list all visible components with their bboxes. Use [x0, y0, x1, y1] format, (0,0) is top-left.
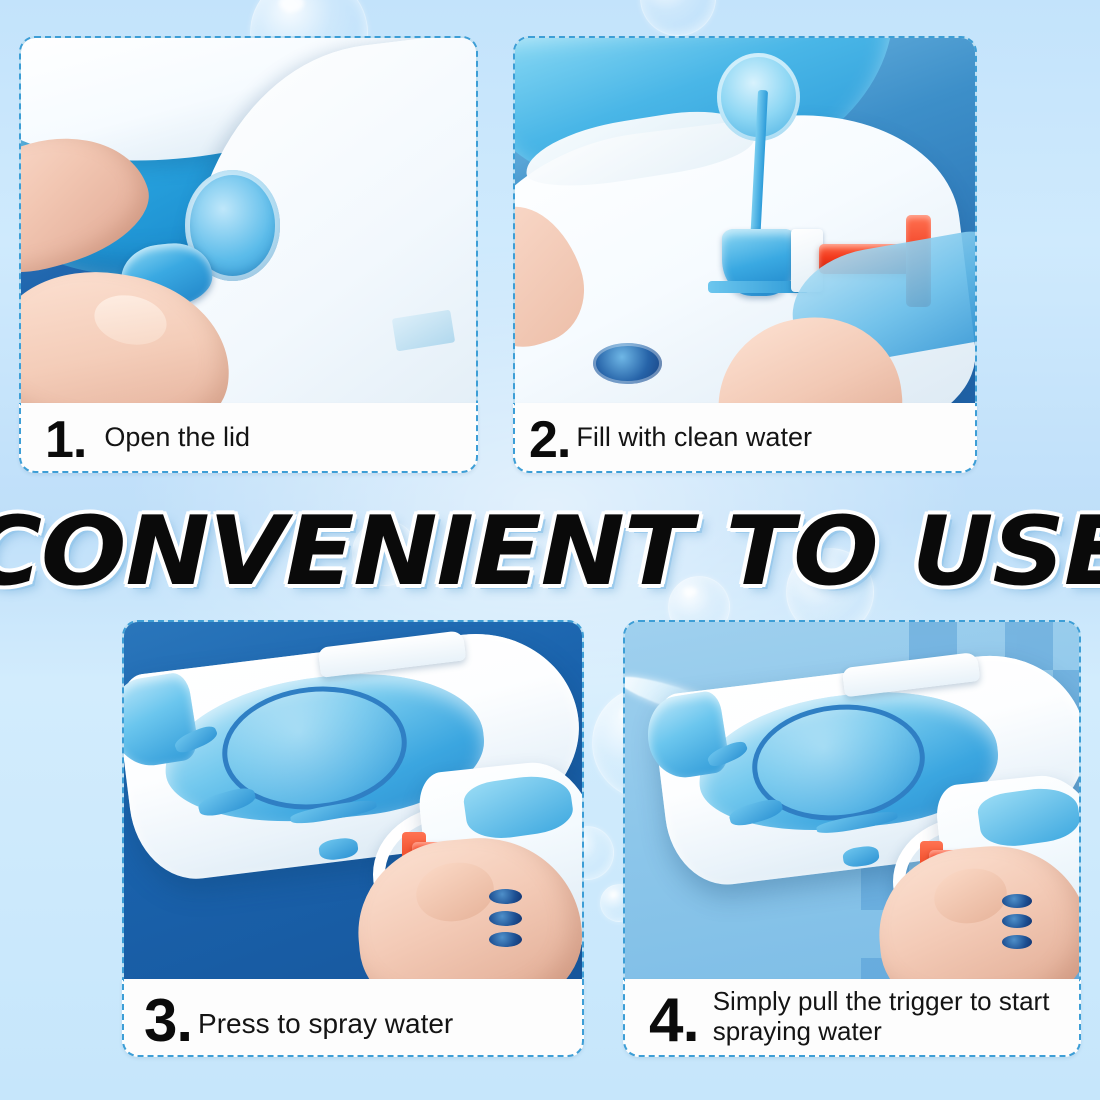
- bubble-icon: [352, 520, 418, 586]
- step-3-caption: 3. Press to spray water: [122, 979, 584, 1057]
- banner-title: CONVENIENT TO USE: [0, 505, 1100, 600]
- vent-hole: [489, 911, 522, 926]
- water-gun: [643, 651, 1081, 968]
- step-3-photo: [122, 620, 584, 982]
- step-card-1: 1. Open the lid: [19, 36, 478, 473]
- vent-hole: [1002, 894, 1033, 908]
- step-4-number: 4.: [649, 993, 699, 1049]
- vent-hole: [1002, 914, 1033, 928]
- step-card-2: 2. Fill with clean water: [513, 36, 977, 473]
- step-2-photo: [513, 36, 977, 406]
- banner: CONVENIENT TO USE: [0, 498, 1100, 606]
- step-4-caption: 4. Simply pull the trigger to start spra…: [623, 979, 1081, 1057]
- step-2-caption: 2. Fill with clean water: [513, 403, 977, 473]
- vent-hole: [593, 343, 662, 383]
- step-4-photo: [623, 620, 1081, 982]
- step-3-number: 3.: [144, 994, 192, 1048]
- step-3-text: Press to spray water: [198, 1008, 572, 1040]
- step-2-number: 2.: [529, 417, 570, 464]
- step-card-3: 3. Press to spray water: [122, 620, 584, 1057]
- step-card-4: 4. Simply pull the trigger to start spra…: [623, 620, 1081, 1057]
- nozzle: [642, 690, 731, 783]
- vent-hole: [489, 932, 522, 947]
- vent-hole: [1002, 935, 1033, 949]
- step-1-photo: [19, 36, 478, 406]
- step-1-caption: 1. Open the lid: [19, 403, 478, 473]
- vent-hole: [489, 889, 522, 904]
- step-4-text: Simply pull the trigger to start sprayin…: [713, 987, 1069, 1046]
- vent-holes: [489, 886, 567, 954]
- water-gun: [122, 629, 584, 967]
- vent-holes: [1002, 892, 1075, 955]
- infographic-poster: 1. Open the lid: [0, 0, 1100, 1100]
- step-1-number: 1.: [45, 417, 86, 464]
- step-1-text: Open the lid: [104, 422, 464, 453]
- nozzle: [122, 671, 199, 771]
- bubble-icon: [640, 0, 716, 36]
- step-2-text: Fill with clean water: [576, 422, 965, 453]
